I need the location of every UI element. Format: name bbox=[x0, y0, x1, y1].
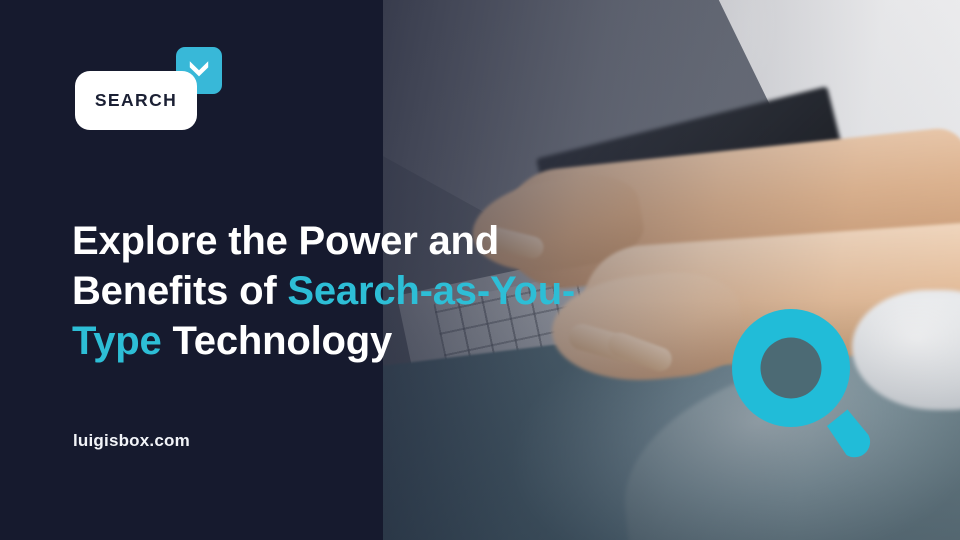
headline-line-2-accent: Search-as-You- bbox=[287, 269, 575, 313]
magnifying-glass-icon bbox=[728, 308, 878, 460]
headline-line-3-accent: Type bbox=[72, 319, 162, 363]
logo[interactable]: SEARCH bbox=[75, 47, 223, 131]
logo-text: SEARCH bbox=[75, 71, 197, 130]
headline-line-2-prefix: Benefits of bbox=[72, 269, 287, 313]
headline-line-1: Explore the Power and bbox=[72, 219, 499, 263]
site-url[interactable]: luigisbox.com bbox=[73, 431, 190, 451]
slide-canvas: SEARCH Explore the Power and Benefits of… bbox=[0, 0, 960, 540]
page-title: Explore the Power and Benefits of Search… bbox=[72, 216, 672, 366]
headline-line-3-suffix: Technology bbox=[162, 319, 392, 363]
